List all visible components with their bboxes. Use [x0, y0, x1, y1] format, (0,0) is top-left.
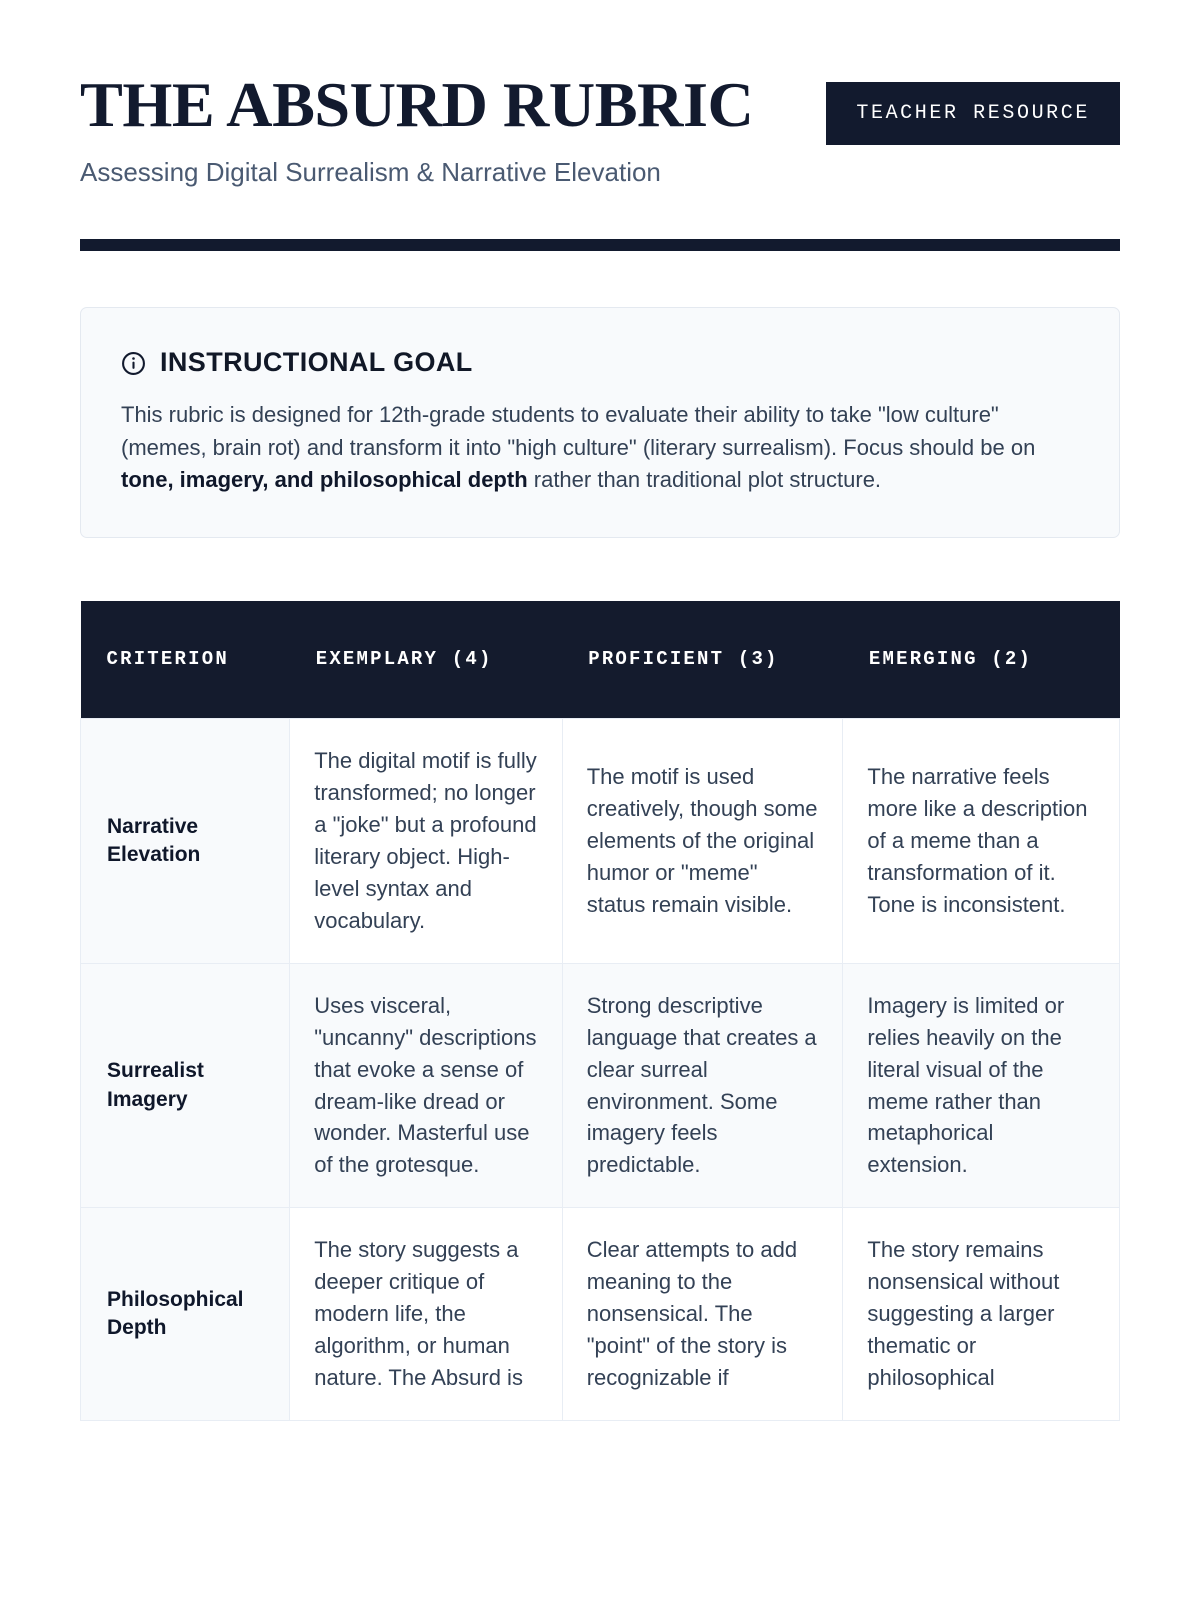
table-row: Narrative Elevation The digital motif is… [81, 719, 1120, 963]
cell-emerging: The narrative feels more like a descript… [843, 719, 1120, 963]
page-subtitle: Assessing Digital Surrealism & Narrative… [80, 156, 826, 189]
goal-text-lead: This rubric is designed for 12th-grade s… [121, 402, 1035, 460]
instructional-goal-title: INSTRUCTIONAL GOAL [160, 349, 473, 376]
cell-emerging: The story remains nonsensical without su… [843, 1208, 1120, 1420]
masthead-text-block: THE ABSURD RUBRIC Assessing Digital Surr… [80, 76, 826, 188]
goal-text-tail: rather than traditional plot structure. [528, 467, 881, 492]
cell-exemplary: Uses visceral, "uncanny" descriptions th… [290, 963, 563, 1207]
cell-exemplary: The story suggests a deeper critique of … [290, 1208, 563, 1420]
masthead: THE ABSURD RUBRIC Assessing Digital Surr… [80, 0, 1120, 188]
column-header-criterion[interactable]: CRITERION [81, 601, 290, 719]
instructional-goal-card: INSTRUCTIONAL GOAL This rubric is design… [80, 307, 1120, 538]
header-divider-rule [80, 239, 1120, 251]
row-criterion-label: Philosophical Depth [81, 1208, 290, 1420]
document-page: THE ABSURD RUBRIC Assessing Digital Surr… [0, 0, 1200, 1600]
rubric-table-head: CRITERION EXEMPLARY (4) PROFICIENT (3) E… [81, 601, 1120, 719]
table-row: Surrealist Imagery Uses visceral, "uncan… [81, 963, 1120, 1207]
instructional-goal-header: INSTRUCTIONAL GOAL [121, 349, 1079, 376]
column-header-proficient[interactable]: PROFICIENT (3) [562, 601, 843, 719]
row-criterion-label: Narrative Elevation [81, 719, 290, 963]
instructional-goal-body: This rubric is designed for 12th-grade s… [121, 399, 1066, 497]
column-header-exemplary[interactable]: EXEMPLARY (4) [290, 601, 563, 719]
table-row: Philosophical Depth The story suggests a… [81, 1208, 1120, 1420]
row-criterion-label: Surrealist Imagery [81, 963, 290, 1207]
teacher-resource-badge: TEACHER RESOURCE [826, 82, 1120, 145]
rubric-table: CRITERION EXEMPLARY (4) PROFICIENT (3) E… [80, 601, 1120, 1421]
cell-exemplary: The digital motif is fully transformed; … [290, 719, 563, 963]
table-header-row: CRITERION EXEMPLARY (4) PROFICIENT (3) E… [81, 601, 1120, 719]
cell-emerging: Imagery is limited or relies heavily on … [843, 963, 1120, 1207]
cell-proficient: Strong descriptive language that creates… [562, 963, 843, 1207]
cell-proficient: The motif is used creatively, though som… [562, 719, 843, 963]
info-circle-icon [121, 351, 146, 376]
rubric-table-body: Narrative Elevation The digital motif is… [81, 719, 1120, 1420]
page-title: THE ABSURD RUBRIC [80, 76, 841, 136]
goal-text-emphasis: tone, imagery, and philosophical depth [121, 467, 528, 492]
cell-proficient: Clear attempts to add meaning to the non… [562, 1208, 843, 1420]
column-header-emerging[interactable]: EMERGING (2) [843, 601, 1120, 719]
